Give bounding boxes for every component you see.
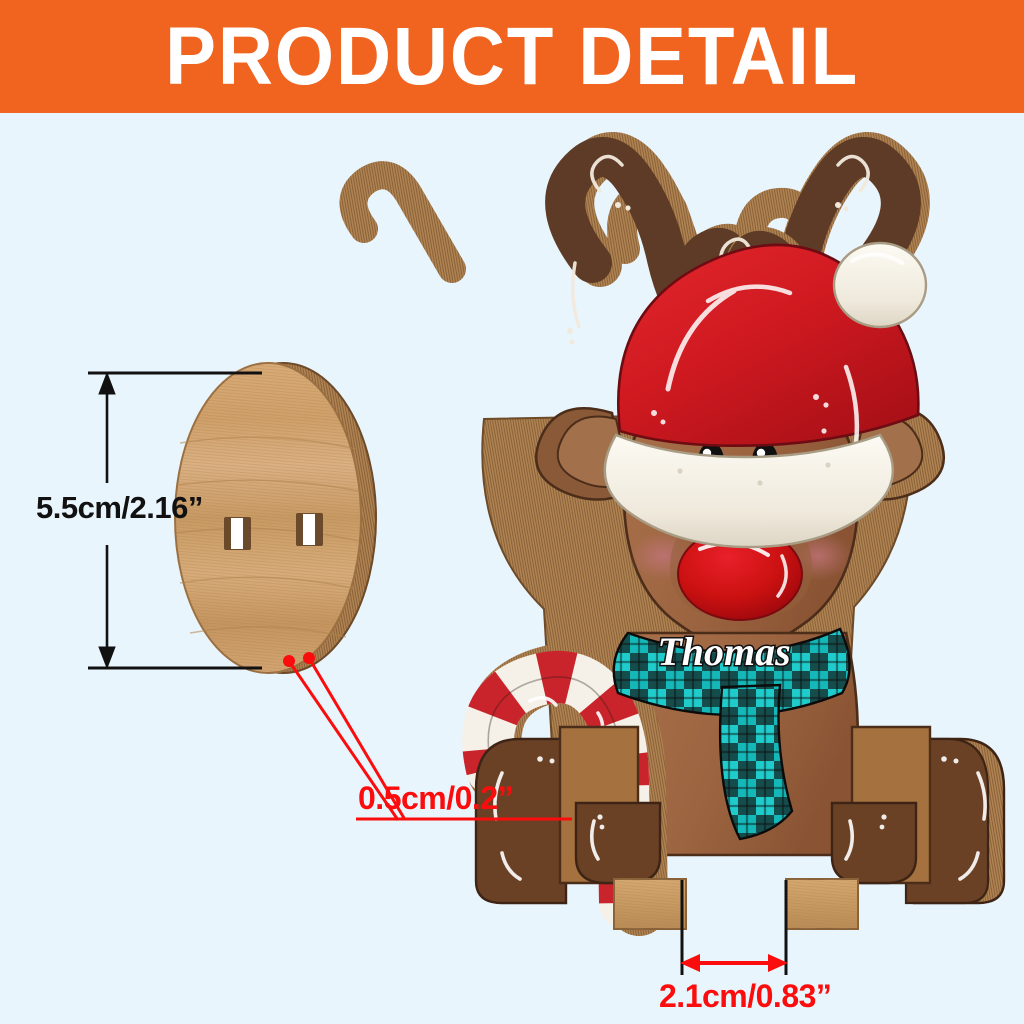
santa-hat xyxy=(605,243,926,547)
header-banner: PRODUCT DETAIL xyxy=(0,0,1024,113)
wooden-oval-base xyxy=(175,363,376,673)
personalized-name: Thomas xyxy=(657,629,790,674)
product-detail-page: PRODUCT DETAIL xyxy=(0,0,1024,1024)
dim-label-thickness: 0.5cm/0.2” xyxy=(358,782,513,814)
page-title: PRODUCT DETAIL xyxy=(165,16,859,98)
hat-pompom xyxy=(834,243,926,327)
dim-label-tab-spacing: 2.1cm/0.83” xyxy=(659,980,831,1012)
dim-label-base-height: 5.5cm/2.16” xyxy=(36,492,203,523)
insert-tabs xyxy=(614,879,858,929)
product-illustration: Thomas xyxy=(0,113,1024,1024)
